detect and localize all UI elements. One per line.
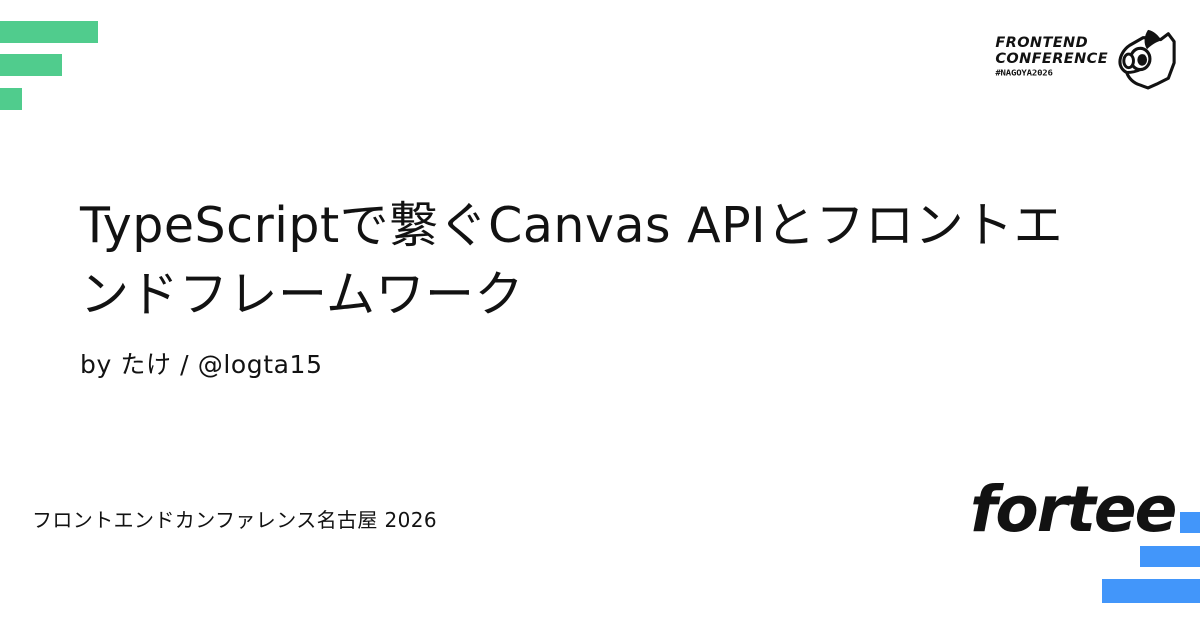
speaker-byline: by たけ / @logta15: [80, 345, 323, 381]
conference-logo-line2: CONFERENCE: [995, 52, 1108, 67]
page-title: TypeScriptで繋ぐCanvas APIとフロントエンドフレームワーク: [80, 191, 1090, 330]
dog-mascot-head-icon: [1118, 24, 1178, 90]
conference-logo: FRONTEND CONFERENCE #NAGOYA2026: [995, 24, 1178, 90]
slide-card: FRONTEND CONFERENCE #NAGOYA2026 TypeScri…: [0, 0, 1200, 630]
blue-bar-3: [1102, 579, 1200, 603]
green-bar-2: [0, 54, 62, 76]
conference-logo-hashtag: #NAGOYA2026: [995, 70, 1052, 78]
blue-bar-2: [1140, 546, 1200, 567]
green-bar-decoration: [0, 0, 160, 130]
conference-logo-text: FRONTEND CONFERENCE #NAGOYA2026: [995, 36, 1108, 79]
fortee-wordmark: fortee: [970, 478, 1175, 541]
blue-bar-1: [1180, 512, 1200, 533]
page-title-text: TypeScriptで繋ぐCanvas APIとフロントエンドフレームワーク: [80, 197, 1063, 324]
fortee-logo: fortee: [970, 470, 1200, 630]
conference-logo-line1: FRONTEND: [995, 36, 1088, 51]
green-bar-3: [0, 88, 22, 110]
event-name: フロントエンドカンファレンス名古屋 2026: [32, 504, 437, 533]
green-bar-1: [0, 21, 98, 43]
